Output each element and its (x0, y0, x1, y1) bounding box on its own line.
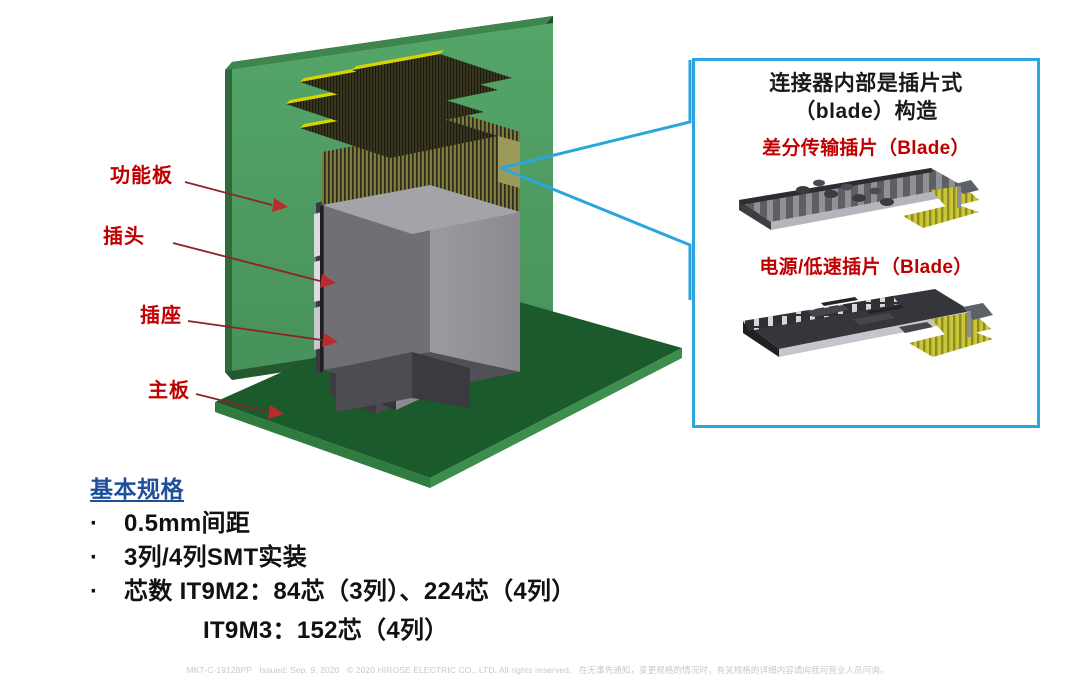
bullet-glyph: · (90, 545, 124, 572)
spec-item-mounting: · 3列/4列SMT实装 (90, 545, 710, 572)
power-lowspeed-blade-image (695, 279, 1037, 383)
basic-specifications-block: 基本规格 · 0.5mm间距 · 3列/4列SMT实装 · 芯数 IT9M2：8… (90, 470, 710, 645)
label-motherboard: 主板 (148, 381, 190, 401)
caption-differential-blade: 差分传输插片（Blade） (695, 133, 1037, 160)
spec-item-text: 芯数 IT9M2：84芯（3列）、224芯（4列） (124, 579, 710, 606)
label-functional-board: 功能板 (110, 166, 173, 186)
footer-doc-no: MKT-C-19128PP (186, 665, 252, 675)
spec-heading: 基本规格 (90, 470, 184, 504)
callout-title-line2: （blade）构造 (701, 98, 1031, 126)
slide-canvas: 功能板 插头 插座 主板 连接器内部是插片式 （blade）构造 差分传输插片（… (0, 0, 1080, 686)
footer-fine-print: MKT-C-19128PP Issued: Sep. 9, 2020 © 202… (0, 664, 1080, 676)
bullet-glyph: · (90, 579, 124, 606)
spec-item-contact-count: · 芯数 IT9M2：84芯（3列）、224芯（4列） (90, 579, 710, 606)
label-plug: 插头 (103, 227, 145, 247)
footer-copyright: © 2020 HIROSE ELECTRIC CO., LTD. All rig… (347, 665, 571, 675)
callout-title-line1: 连接器内部是插片式 (701, 70, 1031, 98)
spec-item-contact-count-continuation: IT9M3：152芯（4列） (90, 610, 710, 645)
footer-issued: Issued: Sep. 9, 2020 (260, 665, 340, 675)
caption-power-lowspeed-blade: 电源/低速插片（Blade） (695, 252, 1037, 279)
spec-item-text: 0.5mm间距 (124, 511, 710, 538)
connector-assembly-illustration (0, 0, 700, 520)
callout-title: 连接器内部是插片式 （blade）构造 (695, 70, 1037, 125)
spec-item-text: 3列/4列SMT实装 (124, 545, 710, 572)
footer-notice: 在无事先通知，变更规格的情况时，有关规格的详细内容请向我司营业人员问询。 (579, 665, 889, 675)
spec-item-pitch: · 0.5mm间距 (90, 511, 710, 538)
differential-blade-image (695, 160, 1037, 246)
bullet-glyph: · (90, 511, 124, 538)
label-receptacle: 插座 (140, 306, 182, 326)
blade-structure-callout: 连接器内部是插片式 （blade）构造 差分传输插片（Blade） (692, 58, 1040, 428)
